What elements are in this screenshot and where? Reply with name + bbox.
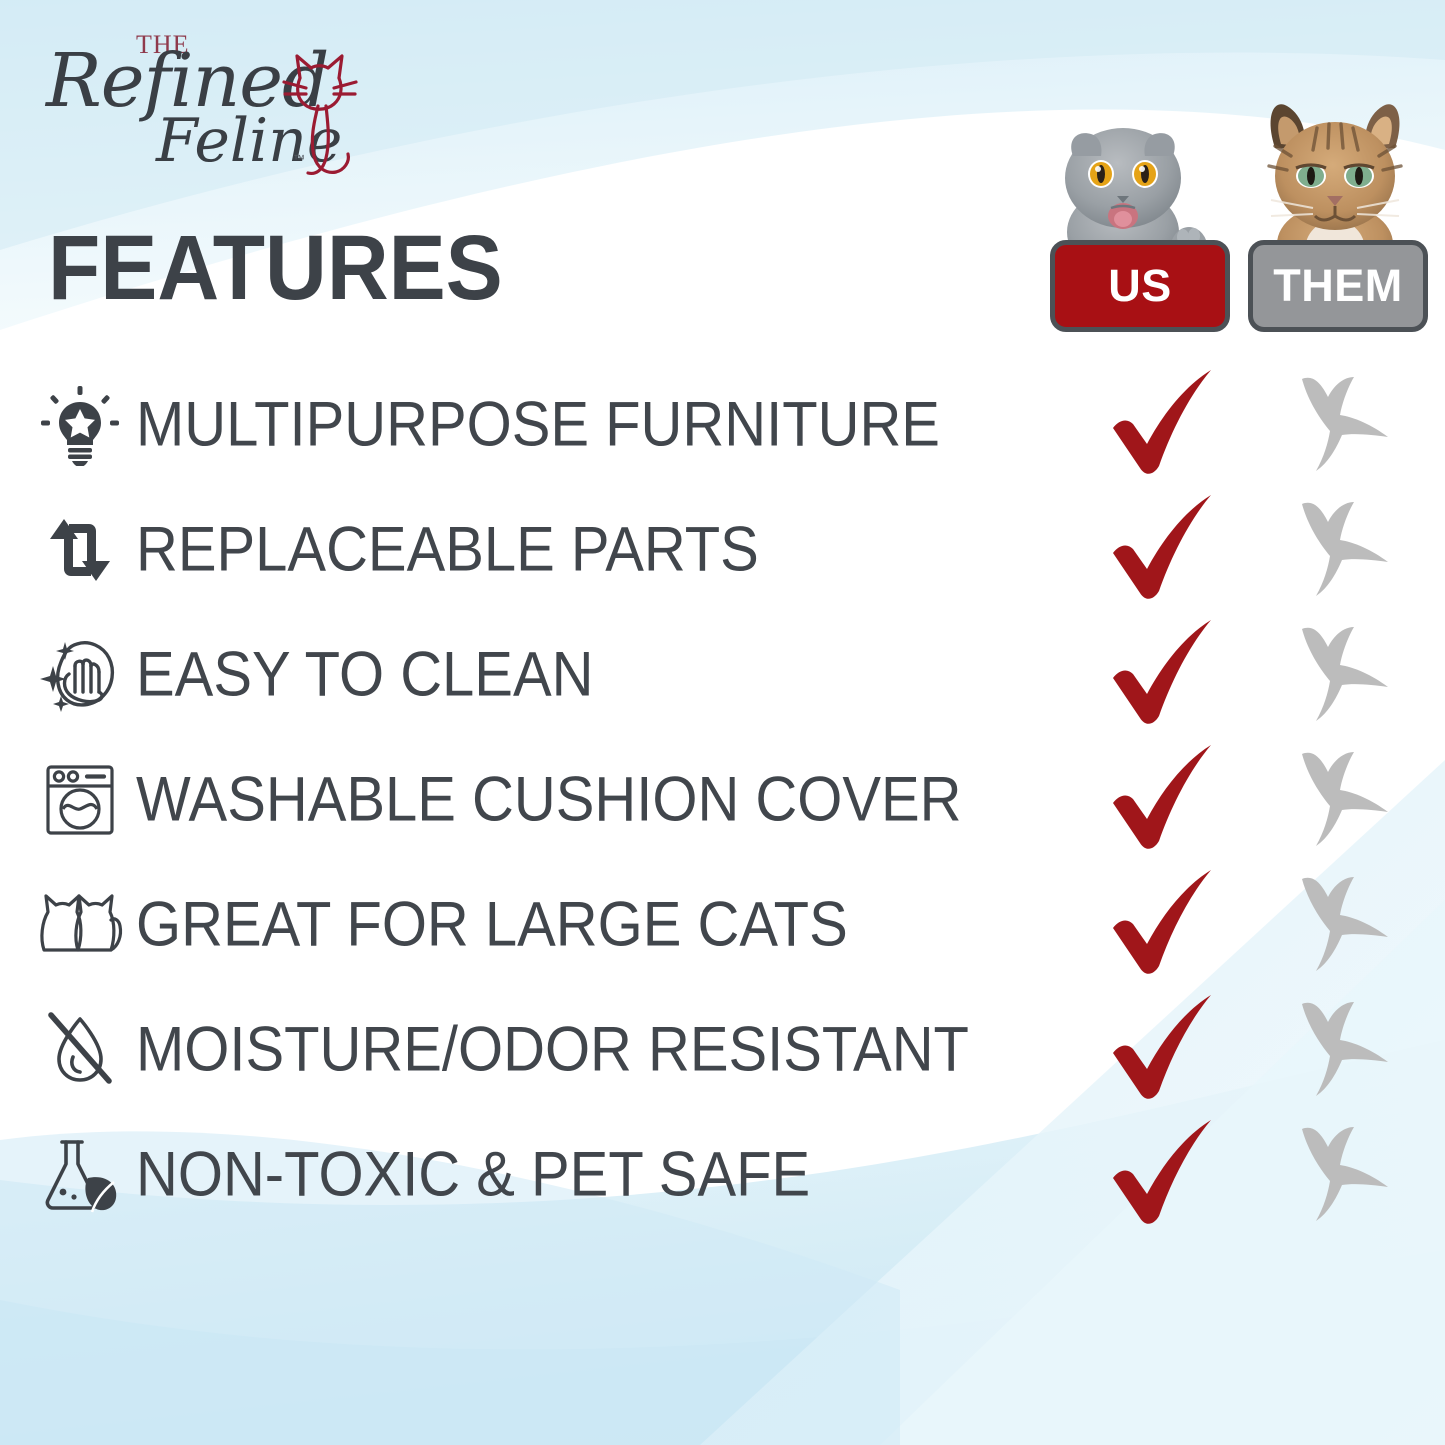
feature-label: EASY TO CLEAN (136, 643, 593, 706)
feature-row: WASHABLE CUSHION COVER (0, 737, 1445, 862)
badge-them[interactable]: THEM (1248, 240, 1428, 332)
flask-leaf-icon (32, 1127, 128, 1223)
x-mark-icon (1292, 375, 1400, 475)
badge-us-label: US (1108, 260, 1172, 312)
cat-silhouette-icon (270, 44, 360, 179)
feature-row: NON-TOXIC & PET SAFE (0, 1112, 1445, 1237)
infographic-canvas: THE Refined Feline ™ FEATURES (0, 0, 1445, 1445)
check-mark-icon (1105, 495, 1225, 605)
x-mark-icon (1292, 625, 1400, 725)
x-mark-icon (1292, 500, 1400, 600)
feature-row: MULTIPURPOSE FURNITURE (0, 362, 1445, 487)
check-mark-icon (1105, 370, 1225, 480)
x-mark-icon (1292, 1000, 1400, 1100)
refresh-arrows-icon (32, 502, 128, 598)
feature-row: MOISTURE/ODOR RESISTANT (0, 987, 1445, 1112)
check-mark-icon (1105, 995, 1225, 1105)
feature-label: REPLACEABLE PARTS (136, 518, 759, 581)
x-mark-icon (1292, 1125, 1400, 1225)
comparison-header: US THEM (1043, 62, 1443, 332)
feature-label: GREAT FOR LARGE CATS (136, 893, 848, 956)
lightbulb-star-icon (32, 377, 128, 473)
features-list: MULTIPURPOSE FURNITURE (0, 362, 1445, 1237)
feature-row: EASY TO CLEAN (0, 612, 1445, 737)
x-mark-icon (1292, 750, 1400, 850)
cleaning-hand-sparkle-icon (32, 627, 128, 723)
badge-us[interactable]: US (1050, 240, 1230, 332)
feature-label: MOISTURE/ODOR RESISTANT (136, 1018, 969, 1081)
check-mark-icon (1105, 870, 1225, 980)
feature-label: NON-TOXIC & PET SAFE (136, 1143, 810, 1206)
feature-row: REPLACEABLE PARTS (0, 487, 1445, 612)
two-cats-icon (32, 877, 128, 973)
check-mark-icon (1105, 1120, 1225, 1230)
no-water-drop-icon (32, 1002, 128, 1098)
check-mark-icon (1105, 745, 1225, 855)
feature-row: GREAT FOR LARGE CATS (0, 862, 1445, 987)
page-title: FEATURES (48, 222, 503, 314)
feature-label: MULTIPURPOSE FURNITURE (136, 393, 940, 456)
badge-them-label: THEM (1273, 260, 1403, 312)
feature-label: WASHABLE CUSHION COVER (136, 768, 962, 831)
check-mark-icon (1105, 620, 1225, 730)
washing-machine-icon (32, 752, 128, 848)
brand-logo[interactable]: THE Refined Feline ™ (38, 24, 338, 184)
x-mark-icon (1292, 875, 1400, 975)
